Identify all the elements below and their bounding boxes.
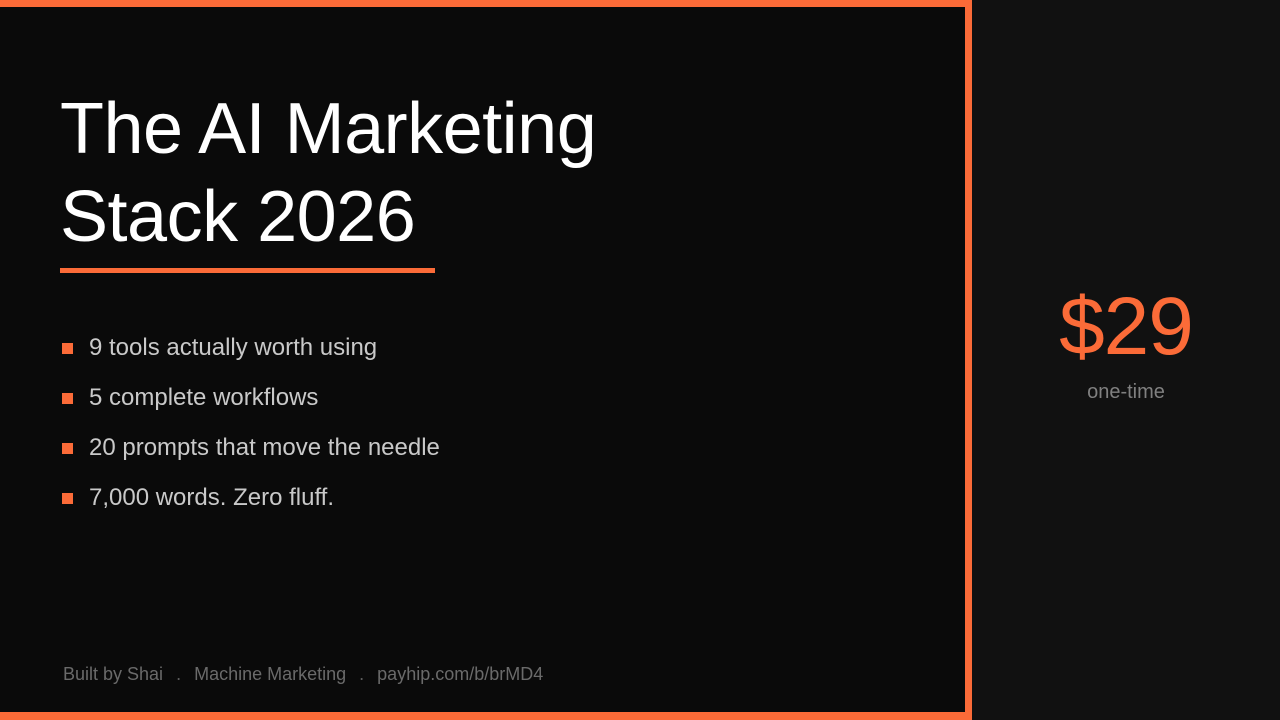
list-item: 7,000 words. Zero fluff. [62, 473, 440, 523]
list-item: 5 complete workflows [62, 373, 440, 423]
square-bullet-icon [62, 493, 73, 504]
footer-brand: Machine Marketing [194, 662, 346, 686]
list-item: 20 prompts that move the needle [62, 423, 440, 473]
feature-bullet-list: 9 tools actually worth using 5 complete … [62, 323, 440, 523]
list-item-label: 9 tools actually worth using [89, 334, 377, 362]
square-bullet-icon [62, 393, 73, 404]
price-sidebar-panel: $29 one-time [972, 0, 1280, 720]
title-line-1: The AI Marketing [60, 85, 760, 173]
list-item-label: 7,000 words. Zero fluff. [89, 484, 334, 512]
list-item-label: 20 prompts that move the needle [89, 434, 440, 462]
price-period-label: one-time [972, 380, 1280, 404]
list-item-label: 5 complete workflows [89, 384, 318, 412]
square-bullet-icon [62, 343, 73, 354]
footer-author: Built by Shai [63, 662, 163, 686]
slide-canvas: The AI Marketing Stack 2026 9 tools actu… [0, 0, 1280, 720]
footer-separator: . [359, 662, 364, 686]
title-line-2-container: Stack 2026 [60, 173, 760, 261]
title-line-2: Stack 2026 [60, 177, 415, 257]
square-bullet-icon [62, 443, 73, 454]
footer-separator: . [176, 662, 181, 686]
title-line-2-wrapper: Stack 2026 [60, 173, 415, 261]
list-item: 9 tools actually worth using [62, 323, 440, 373]
footer-credit-line: Built by Shai . Machine Marketing . payh… [63, 662, 543, 686]
price-block: $29 one-time [972, 281, 1280, 404]
title-underline-accent [60, 268, 435, 273]
left-content-panel: The AI Marketing Stack 2026 9 tools actu… [0, 0, 972, 720]
page-title: The AI Marketing Stack 2026 [60, 85, 760, 261]
left-panel-inner: The AI Marketing Stack 2026 9 tools actu… [0, 7, 965, 712]
footer-link[interactable]: payhip.com/b/brMD4 [377, 662, 543, 686]
price-amount: $29 [972, 281, 1280, 373]
